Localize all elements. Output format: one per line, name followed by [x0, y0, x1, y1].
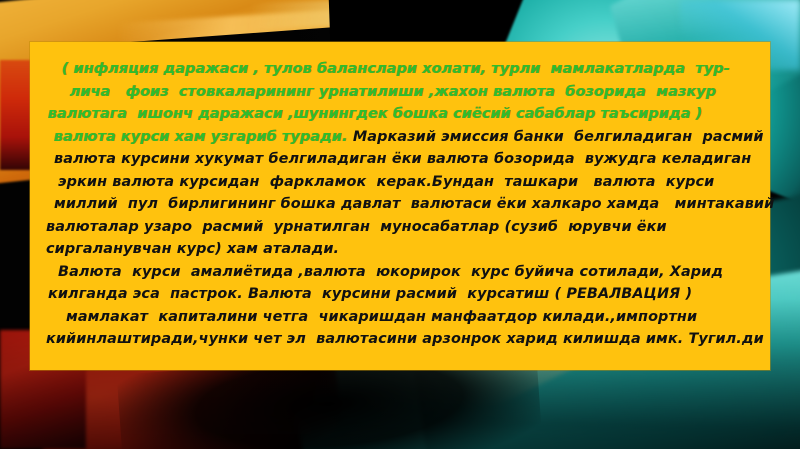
text-line-1: ( инфляция даражаси , тулов баланслари х… — [40, 58, 760, 81]
text-line-6: эркин валюта курсидан фаркламок керак.Бу… — [40, 171, 760, 194]
text-line-4: валюта курси хам узгариб туради. Маркази… — [40, 126, 760, 149]
text-line-7: миллий пул бирлигининг бошка давлат валю… — [40, 193, 760, 216]
text-line-4-green: валюта курси хам узгариб туради. — [54, 129, 348, 145]
presentation-slide: ( инфляция даражаси , тулов баланслари х… — [0, 0, 800, 449]
background-pale-highlight — [250, 0, 771, 29]
text-line-13: кийинлаштиради,чунки чет эл валютасини а… — [40, 328, 760, 351]
text-line-8: валюталар узаро расмий урнатилган муноса… — [40, 216, 760, 239]
text-line-5: валюта курсини хукумат белгиладиган ёки … — [40, 148, 760, 171]
text-line-9: сиргаланувчан курс) хам аталади. — [40, 238, 760, 261]
text-line-12: мамлакат капиталини четга чикаришдан ман… — [40, 306, 760, 329]
content-text-panel: ( инфляция даражаси , тулов баланслари х… — [30, 42, 770, 370]
text-line-2: лича фоиз стовкаларининг урнатилиши ,жах… — [40, 81, 760, 104]
text-line-4-black: Марказий эмиссия банки белгиладиган расм… — [348, 129, 764, 145]
text-line-10: Валюта курси амалиётида ,валюта юкорирок… — [40, 261, 760, 284]
text-line-11: килганда эса пастрок. Валюта курсини рас… — [40, 283, 760, 306]
text-line-3: валютага ишонч даражаси ,шунингдек бошка… — [40, 103, 760, 126]
